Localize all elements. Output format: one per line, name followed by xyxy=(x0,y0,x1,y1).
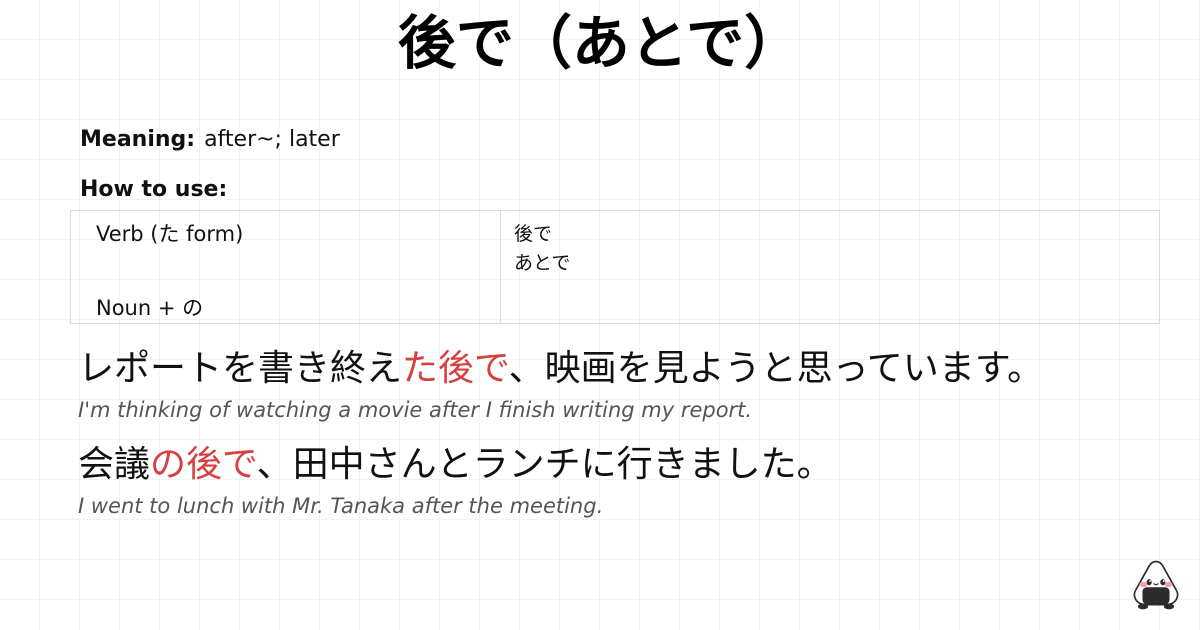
example-1-jp-suffix: 、映画を見ようと思っています。 xyxy=(509,348,1044,389)
example-1-translation: I'm thinking of watching a movie after I… xyxy=(78,397,1148,424)
example-2-translation: I went to lunch with Mr. Tanaka after th… xyxy=(78,493,1148,520)
grammar-card: 後で（あとで） Meaning:after~; later How to use… xyxy=(0,0,1200,630)
structure-attachment-kanji: 後で xyxy=(514,220,1159,249)
structure-table: Verb (た form) Noun + の 後で あとで xyxy=(70,210,1160,324)
structure-form-verb: Verb (た form) xyxy=(96,220,243,248)
structure-attachment-cell: 後で あとで xyxy=(501,211,1159,323)
example-2-jp-highlight: の後で xyxy=(150,444,257,485)
example-2-jp-prefix: 会議 xyxy=(78,444,150,485)
meaning-label: Meaning: xyxy=(80,127,195,152)
example-2-japanese: 会議の後で、田中さんとランチに行きました。 xyxy=(78,442,1148,487)
meaning-value: after~; later xyxy=(204,127,340,152)
example-1-japanese: レポートを書き終えた後で、映画を見ようと思っています。 xyxy=(78,346,1148,391)
example-2-jp-suffix: 、田中さんとランチに行きました。 xyxy=(257,444,833,485)
structure-attachment-kana: あとで xyxy=(514,249,1159,278)
page-title: 後で（あとで） xyxy=(0,8,1200,79)
meaning-row: Meaning:after~; later xyxy=(80,126,340,155)
onigiri-mascot-icon xyxy=(1126,556,1186,616)
example-sentence-1: レポートを書き終えた後で、映画を見ようと思っています。 I'm thinking… xyxy=(78,346,1148,425)
how-to-use-label: How to use: xyxy=(80,177,227,202)
example-1-jp-highlight: た後で xyxy=(402,348,509,389)
structure-forms-cell: Verb (た form) Noun + の xyxy=(71,211,501,323)
structure-form-noun: Noun + の xyxy=(96,294,203,322)
example-1-jp-prefix: レポートを書き終え xyxy=(78,348,402,389)
example-sentence-2: 会議の後で、田中さんとランチに行きました。 I went to lunch wi… xyxy=(78,442,1148,521)
